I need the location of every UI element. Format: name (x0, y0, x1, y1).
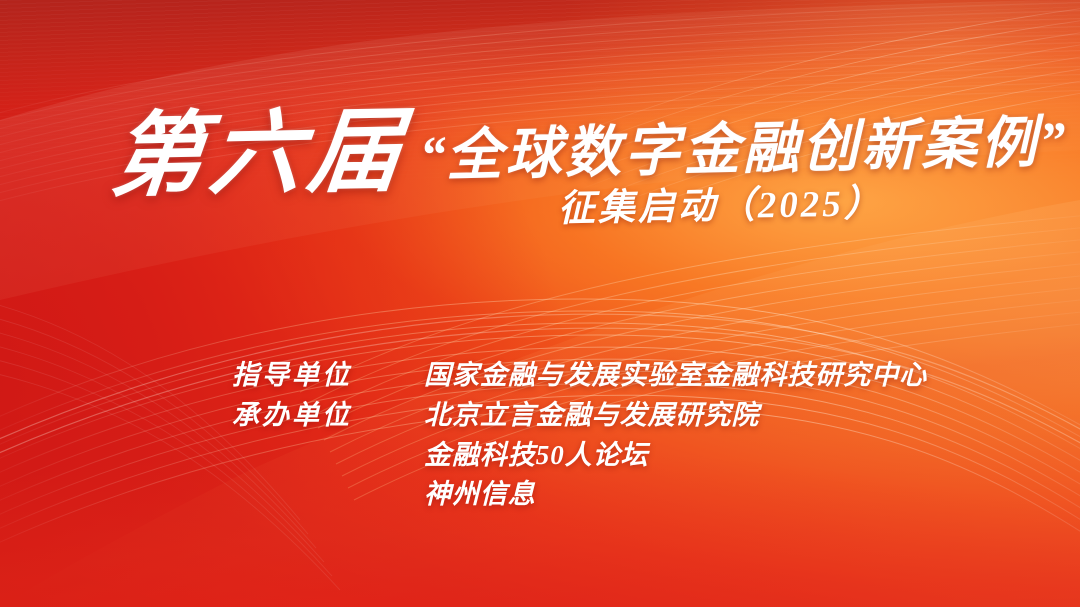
organization-value: 国家金融与发展实验室金融科技研究中心 (424, 360, 927, 391)
main-title: “全球数字金融创新案例” (419, 115, 1066, 186)
organization-label: 指导单位 (232, 360, 424, 391)
close-quote-mark: ” (1039, 113, 1066, 171)
poster-canvas: 第六届 “全球数字金融创新案例” 征集启动（2025） 指导单位 国家金融与发展… (0, 0, 1080, 607)
main-title-text: 全球数字金融创新案例 (445, 112, 1040, 187)
organization-value: 金融科技50人论坛 (424, 440, 649, 471)
organization-row: 承办单位 金融科技50人论坛 (232, 440, 927, 471)
organizations-block: 指导单位 国家金融与发展实验室金融科技研究中心 承办单位 北京立言金融与发展研究… (232, 360, 927, 519)
open-quote-mark: “ (419, 127, 446, 185)
organization-label: 承办单位 (232, 400, 424, 431)
organization-row: 承办单位 北京立言金融与发展研究院 (232, 400, 927, 431)
edition-title: 第六届 (107, 105, 412, 203)
subtitle: 征集启动（2025） (558, 185, 884, 228)
organization-value: 北京立言金融与发展研究院 (424, 400, 759, 431)
poster-content: 第六届 “全球数字金融创新案例” 征集启动（2025） 指导单位 国家金融与发展… (0, 0, 1080, 607)
organization-row: 承办单位 神州信息 (232, 479, 927, 510)
organization-row: 指导单位 国家金融与发展实验室金融科技研究中心 (232, 360, 927, 391)
organization-value: 神州信息 (424, 479, 536, 510)
